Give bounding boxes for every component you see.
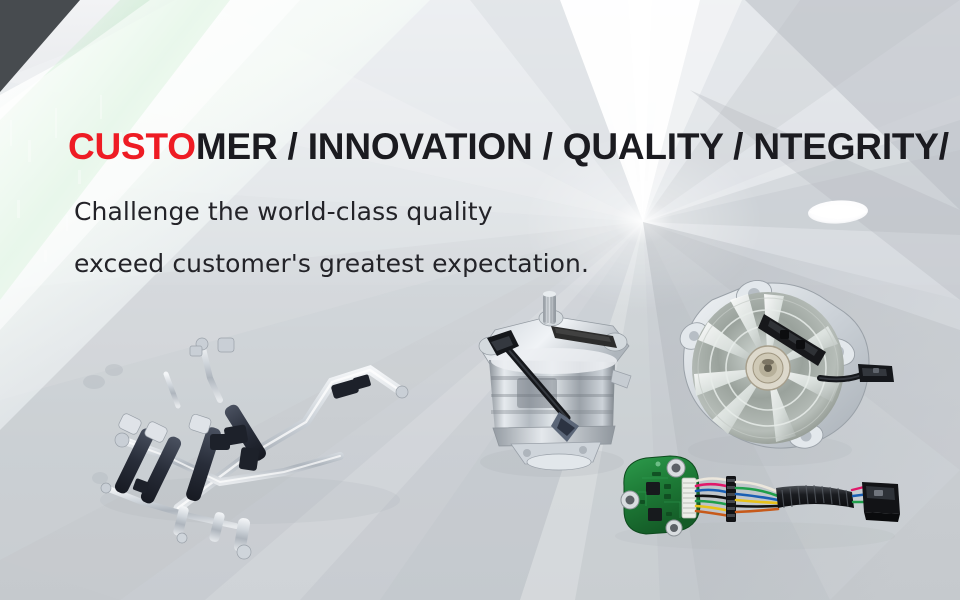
product-pcb-sensor-harness [612,452,904,552]
product-fuel-rail-injector-assembly [70,330,420,565]
pcb-wires [696,479,730,517]
alternator-shaft [543,291,556,324]
product-showcase [0,0,960,600]
product-rotor-fan-assembly [668,278,900,460]
pcb-end-connector [862,482,900,522]
hero-banner: CUSTOMER / INNOVATION / QUALITY / NTEGRI… [0,0,960,600]
pcb-loom [776,485,854,508]
product-alternator [455,290,650,475]
